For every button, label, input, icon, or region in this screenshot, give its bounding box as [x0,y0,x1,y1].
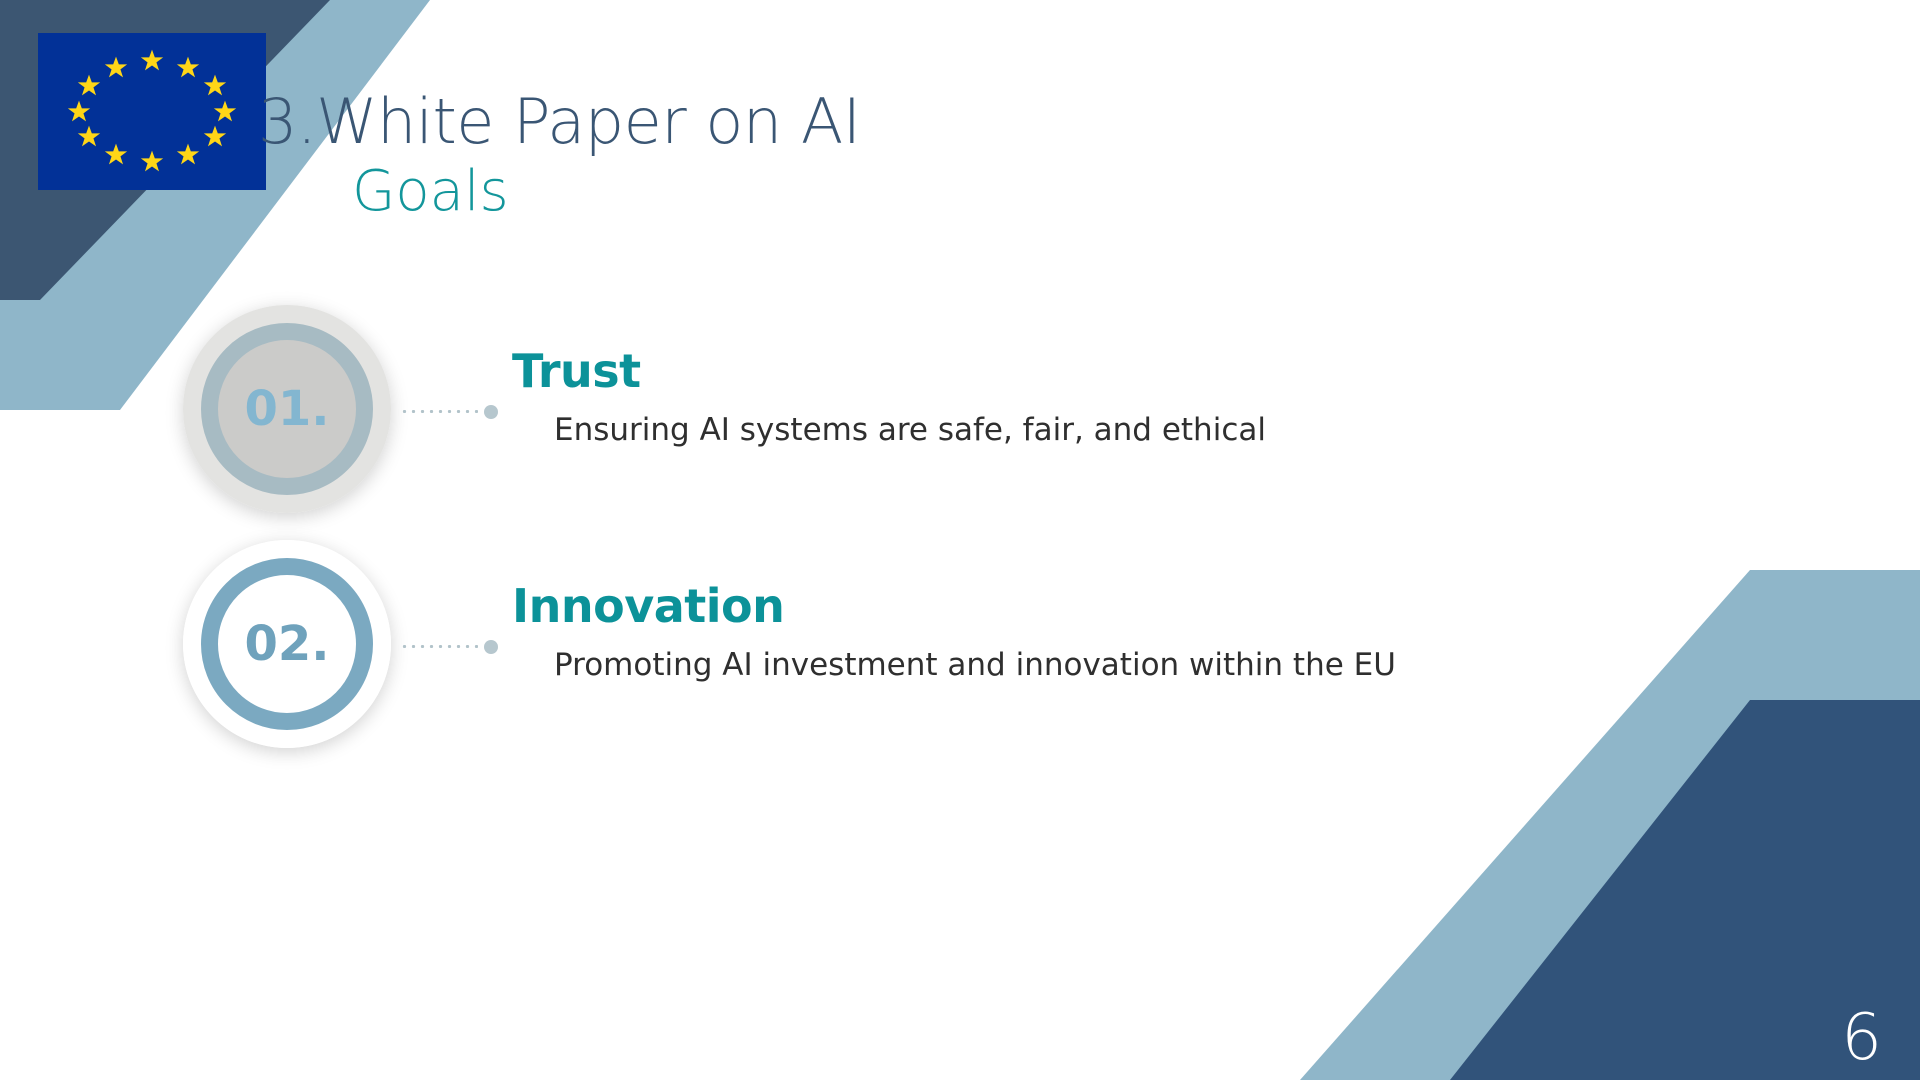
eu-star-icon [139,48,165,74]
slide-canvas: 3.White Paper on AI Goals 01. Trust Ensu… [0,0,1920,1080]
page-title: 3.White Paper on AI [258,90,1358,153]
eu-star-icon [175,55,201,81]
eu-star-icon [76,73,102,99]
eu-star-icon [76,124,102,150]
goal-badge-01[interactable]: 01. [183,305,391,513]
goal-text-block: Trust Ensuring AI systems are safe, fair… [512,348,1762,449]
eu-star-icon [175,142,201,168]
connector-endcap-dot-icon [484,640,498,654]
dotted-connector [400,405,498,419]
goal-heading: Innovation [512,583,1762,629]
goal-number-label: 01. [244,381,329,437]
european-union-flag [38,33,266,190]
goal-number-label: 02. [244,616,329,672]
eu-star-icon [202,124,228,150]
goal-description: Promoting AI investment and innovation w… [554,647,1762,684]
goal-text-block: Innovation Promoting AI investment and i… [512,583,1762,684]
eu-star-icon [202,73,228,99]
goal-row[interactable]: 02. Innovation Promoting AI investment a… [0,525,1920,765]
goal-description: Ensuring AI systems are safe, fair, and … [554,412,1762,449]
page-subtitle: Goals [352,163,1358,222]
connector-dots-icon [400,410,478,413]
connector-endcap-dot-icon [484,405,498,419]
goal-heading: Trust [512,348,1762,394]
title-block: 3.White Paper on AI Goals [258,90,1358,222]
dotted-connector [400,640,498,654]
connector-dots-icon [400,645,478,648]
goal-row[interactable]: 01. Trust Ensuring AI systems are safe, … [0,290,1920,530]
page-number: 6 [1841,1006,1882,1070]
eu-star-icon [66,99,92,125]
eu-star-icon [103,142,129,168]
eu-star-icon [139,149,165,175]
eu-star-icon [212,99,238,125]
goal-badge-02[interactable]: 02. [183,540,391,748]
eu-star-icon [103,55,129,81]
